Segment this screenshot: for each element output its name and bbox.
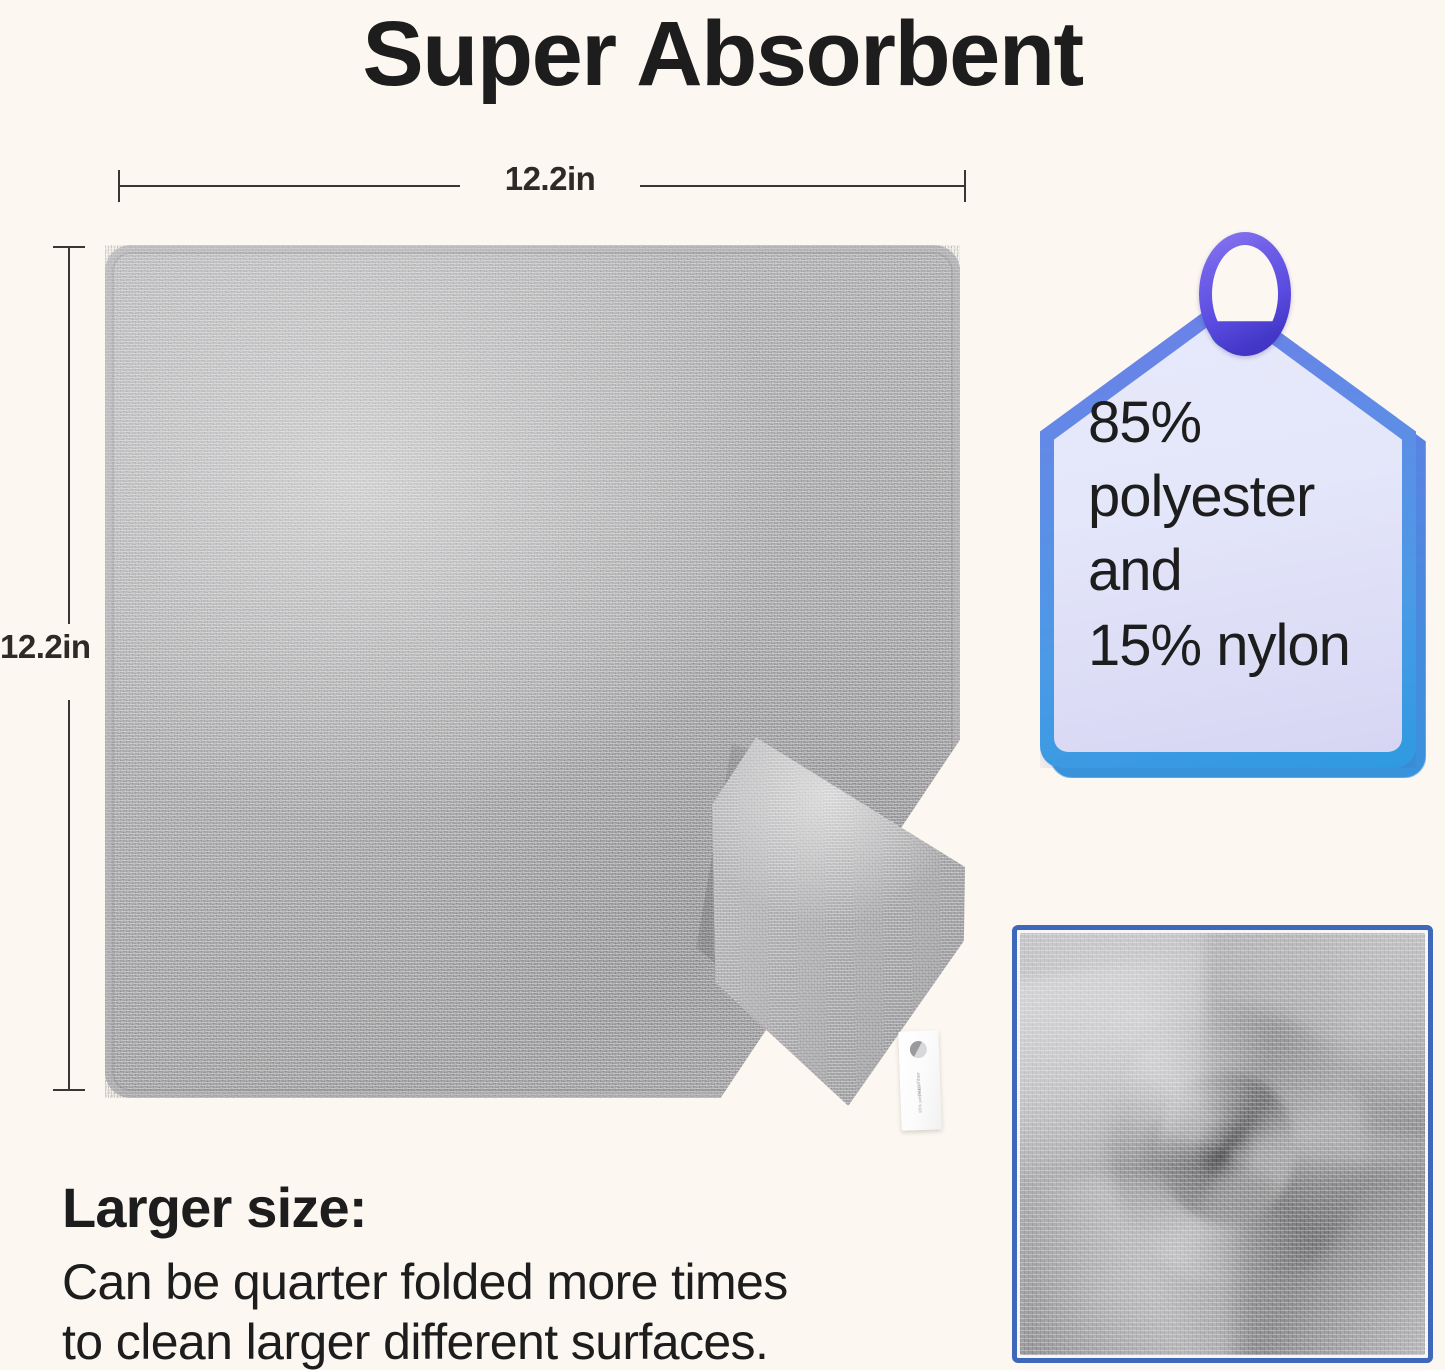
height-dimension-label: 12.2in	[0, 628, 110, 666]
towel-product-image: microfiber 85% polyester	[96, 238, 974, 1106]
height-dimension-cap-top	[53, 246, 85, 248]
height-dimension-cap-bottom	[53, 1089, 85, 1091]
feature-heading: Larger size:	[62, 1180, 367, 1236]
height-dimension-line-upper	[68, 246, 70, 624]
fabric-crease-3	[1020, 1178, 1247, 1355]
fabric-closeup-image	[1020, 933, 1425, 1355]
fabric-crease-1	[1020, 951, 1259, 1177]
width-dimension-cap-right	[964, 170, 966, 202]
fabric-swirl-outer	[1109, 1009, 1368, 1288]
fabric-closeup-photo	[1012, 925, 1433, 1363]
feature-body-text: Can be quarter folded more times to clea…	[62, 1252, 992, 1370]
fabric-closeup-texture	[1020, 933, 1425, 1355]
page-title: Super Absorbent	[0, 6, 1445, 104]
fabric-crease-2	[1206, 933, 1425, 1136]
fabric-swirl-inner	[1158, 1072, 1296, 1224]
hangtag-composition-text: 85% polyester and 15% nylon	[1088, 386, 1408, 683]
width-dimension-cap-left	[118, 170, 120, 202]
product-infographic: Super Absorbent 12.2in 12.2in microfiber…	[0, 0, 1445, 1370]
material-hangtag: 85% polyester and 15% nylon	[1026, 218, 1426, 784]
fabric-crease-4	[1231, 1169, 1425, 1355]
fabric-swirl-core	[1194, 1119, 1255, 1182]
care-label: microfiber 85% polyester	[898, 1030, 941, 1130]
height-dimension-line-lower	[68, 700, 70, 1090]
width-dimension-label: 12.2in	[460, 160, 640, 198]
